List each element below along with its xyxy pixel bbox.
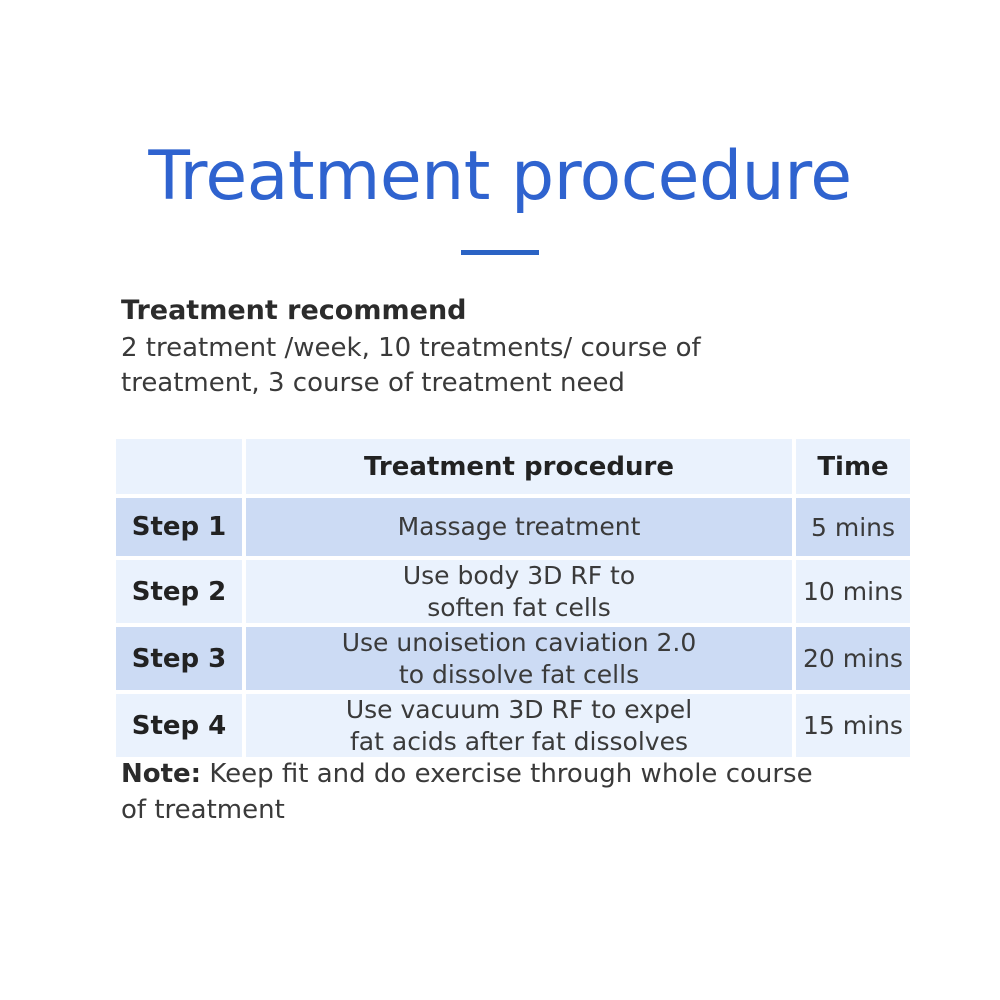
table-header-step <box>116 439 242 494</box>
cell-time: 20 mins <box>796 627 910 690</box>
cell-procedure-line2: fat acids after fat dissolves <box>246 726 792 758</box>
cell-procedure: Use unoisetion caviation 2.0 to dissolve… <box>246 627 792 690</box>
cell-step-label: Step 4 <box>116 694 242 757</box>
title-underline-rule <box>461 250 539 255</box>
cell-procedure-line1: Massage treatment <box>398 512 641 541</box>
table-row: Step 1 Massage treatment 5 mins <box>116 498 910 556</box>
cell-procedure: Use body 3D RF to soften fat cells <box>246 560 792 623</box>
table-header-row: Treatment procedure Time <box>116 439 910 494</box>
treatment-recommend-body: 2 treatment /week, 10 treatments/ course… <box>121 331 761 402</box>
treatment-procedure-table: Treatment procedure Time Step 1 Massage … <box>112 435 914 761</box>
note-text: Keep fit and do exercise through whole c… <box>121 759 813 825</box>
cell-procedure: Use vacuum 3D RF to expel fat acids afte… <box>246 694 792 757</box>
treatment-recommend-heading: Treatment recommend <box>121 293 821 329</box>
cell-time: 15 mins <box>796 694 910 757</box>
cell-procedure-line1: Use unoisetion caviation 2.0 <box>342 628 697 657</box>
table-header-time: Time <box>796 439 910 494</box>
cell-procedure-line2: soften fat cells <box>246 592 792 624</box>
cell-step-label: Step 3 <box>116 627 242 690</box>
page-title: Treatment procedure <box>0 143 1000 211</box>
title-block: Treatment procedure <box>0 143 1000 255</box>
cell-procedure-line2: to dissolve fat cells <box>246 659 792 691</box>
intro-block: Treatment recommend 2 treatment /week, 1… <box>121 293 821 401</box>
cell-procedure-line1: Use vacuum 3D RF to expel <box>346 695 692 724</box>
note-block: Note: Keep fit and do exercise through w… <box>121 757 841 829</box>
cell-procedure-line1: Use body 3D RF to <box>403 561 635 590</box>
cell-time: 10 mins <box>796 560 910 623</box>
note-label: Note: <box>121 759 201 789</box>
table-row: Step 4 Use vacuum 3D RF to expel fat aci… <box>116 694 910 757</box>
table-row: Step 2 Use body 3D RF to soften fat cell… <box>116 560 910 623</box>
cell-time: 5 mins <box>796 498 910 556</box>
table-row: Step 3 Use unoisetion caviation 2.0 to d… <box>116 627 910 690</box>
cell-step-label: Step 1 <box>116 498 242 556</box>
cell-procedure: Massage treatment <box>246 498 792 556</box>
page-root: Treatment procedure Treatment recommend … <box>0 0 1000 1000</box>
table-header-procedure: Treatment procedure <box>246 439 792 494</box>
cell-step-label: Step 2 <box>116 560 242 623</box>
